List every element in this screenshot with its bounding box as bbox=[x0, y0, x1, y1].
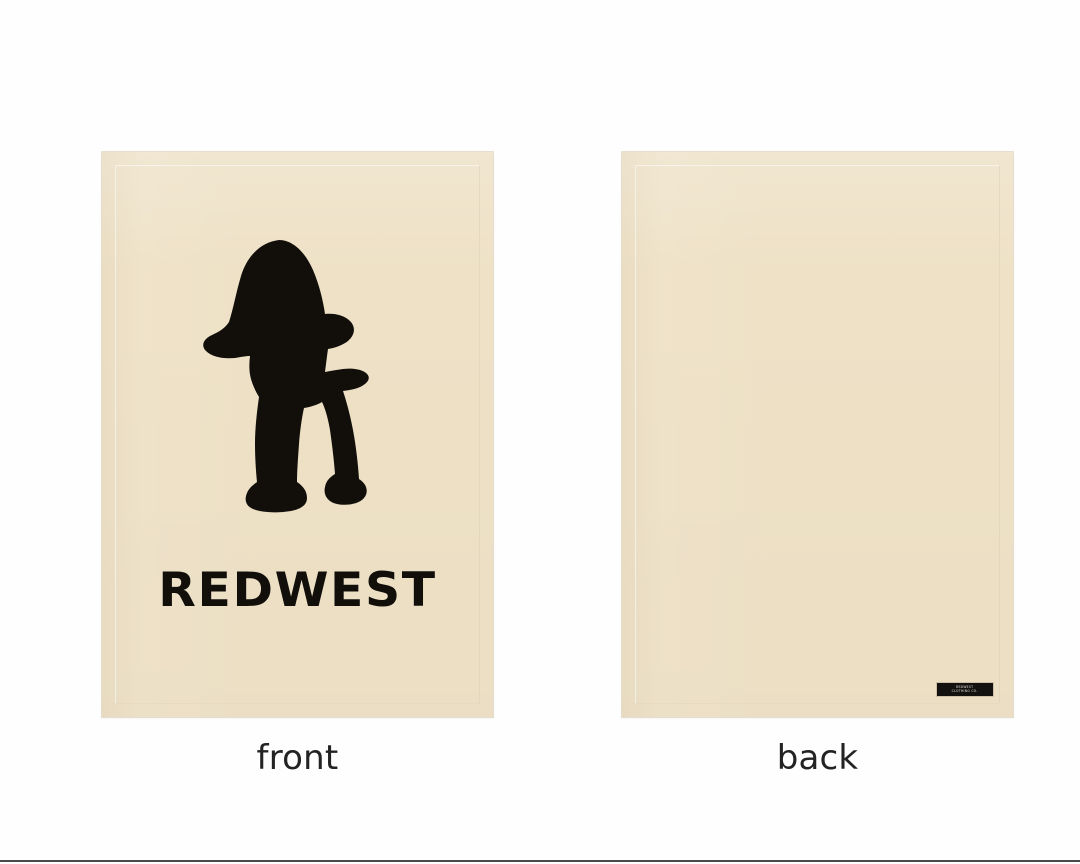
card-slot-front: REDWEST bbox=[102, 152, 493, 717]
page-canvas: REDWEST REDWEST CLOTHING CO. front back bbox=[0, 0, 1080, 864]
cowboy-silhouette-icon bbox=[102, 232, 493, 532]
card-front[interactable]: REDWEST bbox=[102, 152, 493, 717]
care-label-chip: REDWEST CLOTHING CO. bbox=[936, 682, 994, 697]
bottom-divider bbox=[0, 860, 1080, 862]
card-inset-keyline bbox=[635, 165, 1000, 704]
card-slot-back: REDWEST CLOTHING CO. bbox=[622, 152, 1013, 717]
caption-front: front bbox=[102, 738, 493, 778]
card-back[interactable]: REDWEST CLOTHING CO. bbox=[622, 152, 1013, 717]
card-comparison-group: REDWEST REDWEST CLOTHING CO. front back bbox=[0, 0, 1080, 864]
card-wordmark: REDWEST bbox=[102, 567, 493, 614]
care-label-text: REDWEST CLOTHING CO. bbox=[952, 685, 978, 693]
caption-back: back bbox=[622, 738, 1013, 778]
